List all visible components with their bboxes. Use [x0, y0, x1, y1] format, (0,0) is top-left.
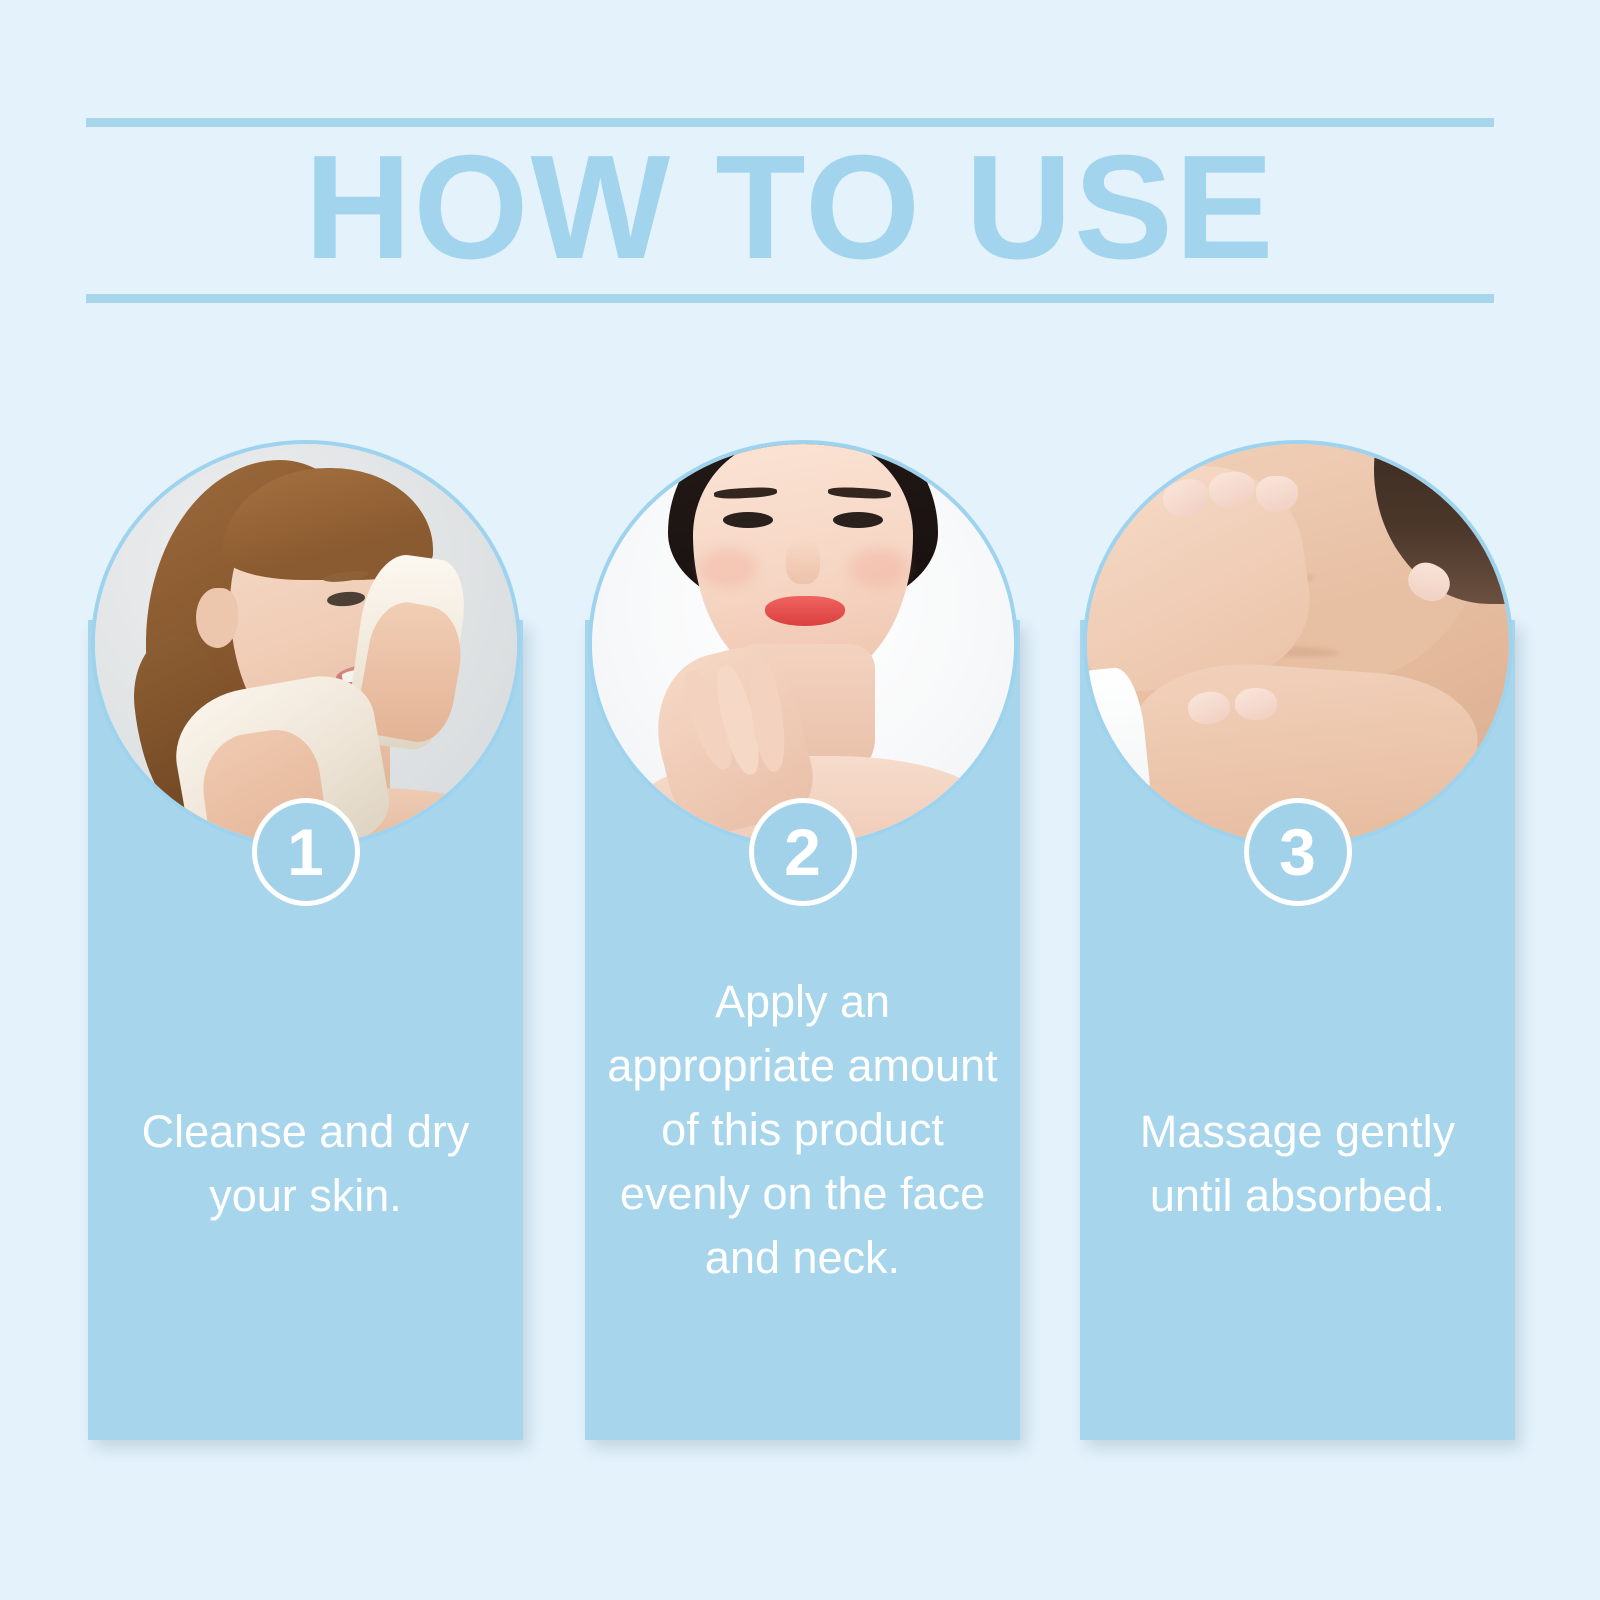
- step-photo-2: [588, 440, 1018, 848]
- step-number-badge-3: 3: [1244, 798, 1352, 906]
- step-card-2: 2 Apply an appropriate amount of this pr…: [585, 440, 1020, 1445]
- step-card-1: 1 Cleanse and dry your skin.: [88, 440, 523, 1445]
- step-number-badge-1: 1: [252, 798, 360, 906]
- step-card-3: 3 Massage gently until absorbed.: [1080, 440, 1515, 1445]
- step-number-badge-2: 2: [749, 798, 857, 906]
- steps-container: 1 Cleanse and dry your skin.: [0, 0, 1600, 1600]
- step-caption-1: Cleanse and dry your skin.: [106, 1100, 505, 1228]
- step-caption-2: Apply an appropriate amount of this prod…: [603, 970, 1002, 1290]
- how-to-use-infographic: HOW TO USE: [0, 0, 1600, 1600]
- step-photo-1: [91, 440, 521, 848]
- step-caption-3: Massage gently until absorbed.: [1098, 1100, 1497, 1228]
- step-photo-3: [1083, 440, 1513, 848]
